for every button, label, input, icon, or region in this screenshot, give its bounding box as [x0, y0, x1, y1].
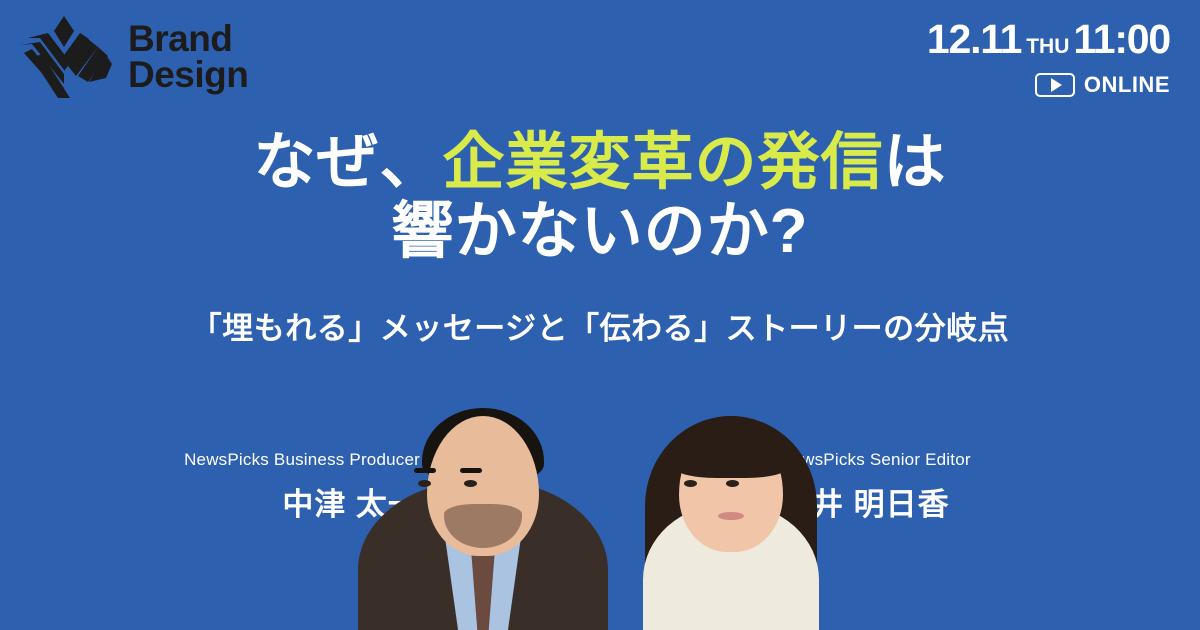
- brand-design-logo[interactable]: Brand Design: [18, 14, 248, 100]
- play-icon: [1035, 73, 1075, 97]
- speaker-portraits: [352, 376, 848, 630]
- event-time: 11:00: [1073, 16, 1170, 63]
- logo-line-design: Design: [128, 57, 248, 93]
- headline-line-2: 響かないのか?: [0, 197, 1200, 266]
- headline-part-3: は: [884, 128, 947, 197]
- page-subtitle: 「埋もれる」メッセージと「伝わる」ストーリーの分岐点: [0, 303, 1200, 348]
- page-title: なぜ、企業変革の発信は 響かないのか?: [0, 128, 1200, 267]
- portrait-male-suit: [352, 376, 614, 630]
- event-datetime: 12.11 THU 11:00: [927, 16, 1170, 63]
- headline-accent: 企業変革の発信: [442, 128, 883, 197]
- online-badge: ONLINE: [927, 72, 1170, 98]
- seminar-banner: Brand Design 12.11 THU 11:00 ONLINE なぜ、企…: [0, 0, 1200, 630]
- logo-line-brand: Brand: [128, 21, 248, 57]
- online-label: ONLINE: [1084, 72, 1170, 98]
- headline-part-1: なぜ、: [253, 128, 442, 197]
- portrait-female-blouse: [614, 376, 848, 630]
- logo-wordmark: Brand Design: [128, 21, 248, 94]
- headline-line-1: なぜ、企業変革の発信は: [0, 128, 1200, 197]
- event-meta: 12.11 THU 11:00 ONLINE: [927, 16, 1170, 98]
- event-date: 12.11: [927, 16, 1021, 63]
- zebra-head-logo-icon: [18, 14, 114, 100]
- event-weekday: THU: [1021, 35, 1073, 59]
